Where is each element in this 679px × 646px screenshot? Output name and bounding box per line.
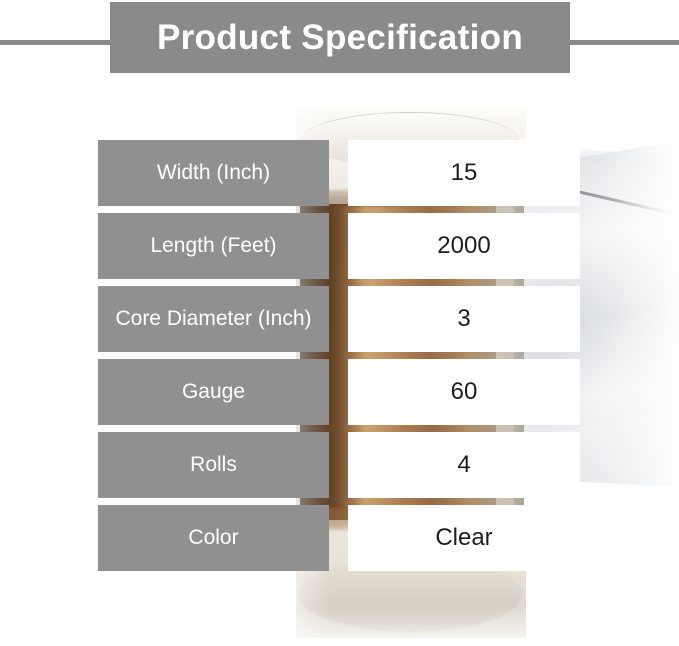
table-row: Width (Inch) 15	[98, 140, 580, 206]
table-row: Core Diameter (Inch) 3	[98, 286, 580, 352]
spec-value: 3	[348, 286, 580, 352]
table-row: Color Clear	[98, 505, 580, 571]
spec-value: 15	[348, 140, 580, 206]
spec-value: 4	[348, 432, 580, 498]
specification-table: Width (Inch) 15 Length (Feet) 2000 Core …	[0, 0, 679, 646]
table-row: Rolls 4	[98, 432, 580, 498]
spec-label: Length (Feet)	[98, 213, 329, 279]
spec-label: Color	[98, 505, 329, 571]
spec-label: Core Diameter (Inch)	[98, 286, 329, 352]
spec-label: Rolls	[98, 432, 329, 498]
table-row: Gauge 60	[98, 359, 580, 425]
spec-label: Gauge	[98, 359, 329, 425]
spec-value: Clear	[348, 505, 580, 571]
spec-value: 60	[348, 359, 580, 425]
spec-label: Width (Inch)	[98, 140, 329, 206]
table-row: Length (Feet) 2000	[98, 213, 580, 279]
spec-value: 2000	[348, 213, 580, 279]
product-specification-infographic: Product Specification Width (Inch) 15 Le…	[0, 0, 679, 646]
